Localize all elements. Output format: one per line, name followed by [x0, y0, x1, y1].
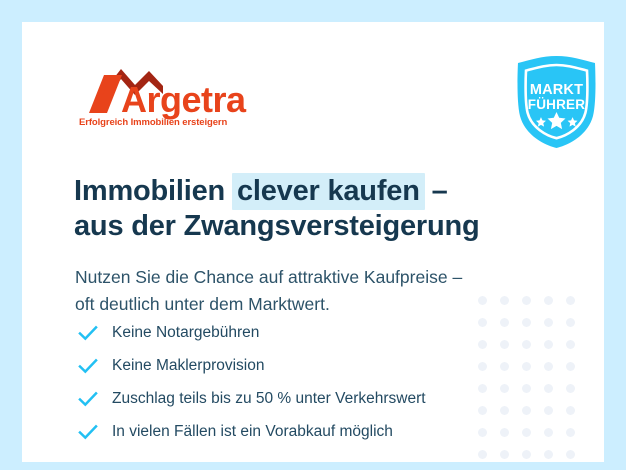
logo-a-mark-icon [89, 75, 122, 113]
badge-line1: MARKT [530, 82, 583, 98]
decorative-dot [566, 296, 575, 305]
subheadline-line-2: oft deutlich unter dem Marktwert. [75, 291, 555, 318]
decorative-dot [566, 406, 575, 415]
check-icon [78, 389, 98, 409]
headline-line-1: Immobilien clever kaufen – [74, 174, 544, 209]
list-item-label: Zuschlag teils bis zu 50 % unter Verkehr… [112, 389, 426, 409]
banner-frame: Argetra Erfolgreich Immobilien ersteiger… [0, 0, 626, 470]
headline-line-2: aus der Zwangsversteigerung [74, 209, 544, 244]
decorative-dot [522, 450, 531, 459]
list-item-label: Keine Maklerprovision [112, 356, 265, 376]
decorative-dot [566, 340, 575, 349]
headline-text-after: – [424, 175, 448, 207]
benefits-checklist: Keine Notargebühren Keine Maklerprovisio… [78, 318, 548, 450]
check-icon [78, 356, 98, 376]
decorative-dot [500, 450, 509, 459]
argetra-logo[interactable]: Argetra Erfolgreich Immobilien ersteiger… [77, 66, 292, 128]
svg-text:Erfolgreich Immobilien ersteig: Erfolgreich Immobilien ersteigern [79, 117, 228, 128]
list-item: Keine Maklerprovision [78, 351, 548, 381]
decorative-dot [566, 384, 575, 393]
subheadline-line-1: Nutzen Sie die Chance auf attraktive Kau… [75, 264, 555, 291]
headline: Immobilien clever kaufen – aus der Zwang… [74, 174, 544, 244]
decorative-dot [566, 428, 575, 437]
list-item: Zuschlag teils bis zu 50 % unter Verkehr… [78, 384, 548, 414]
decorative-dot [566, 450, 575, 459]
list-item: In vielen Fällen ist ein Vorabkauf mögli… [78, 417, 548, 447]
badge-line2: FÜHRER [528, 97, 585, 112]
market-leader-badge: MARKT FÜHRER [509, 54, 604, 150]
list-item-label: In vielen Fällen ist ein Vorabkauf mögli… [112, 422, 393, 442]
check-icon [78, 323, 98, 343]
decorative-dot [566, 318, 575, 327]
svg-text:Argetra: Argetra [121, 79, 247, 120]
subheadline: Nutzen Sie die Chance auf attraktive Kau… [75, 264, 555, 318]
headline-text-before: Immobilien [74, 175, 233, 207]
content-card: Argetra Erfolgreich Immobilien ersteiger… [22, 22, 604, 462]
decorative-dot [566, 362, 575, 371]
list-item-label: Keine Notargebühren [112, 323, 259, 343]
decorative-dot [544, 450, 553, 459]
decorative-dot [478, 450, 487, 459]
check-icon [78, 422, 98, 442]
list-item: Keine Notargebühren [78, 318, 548, 348]
headline-highlight: clever kaufen [232, 173, 425, 210]
